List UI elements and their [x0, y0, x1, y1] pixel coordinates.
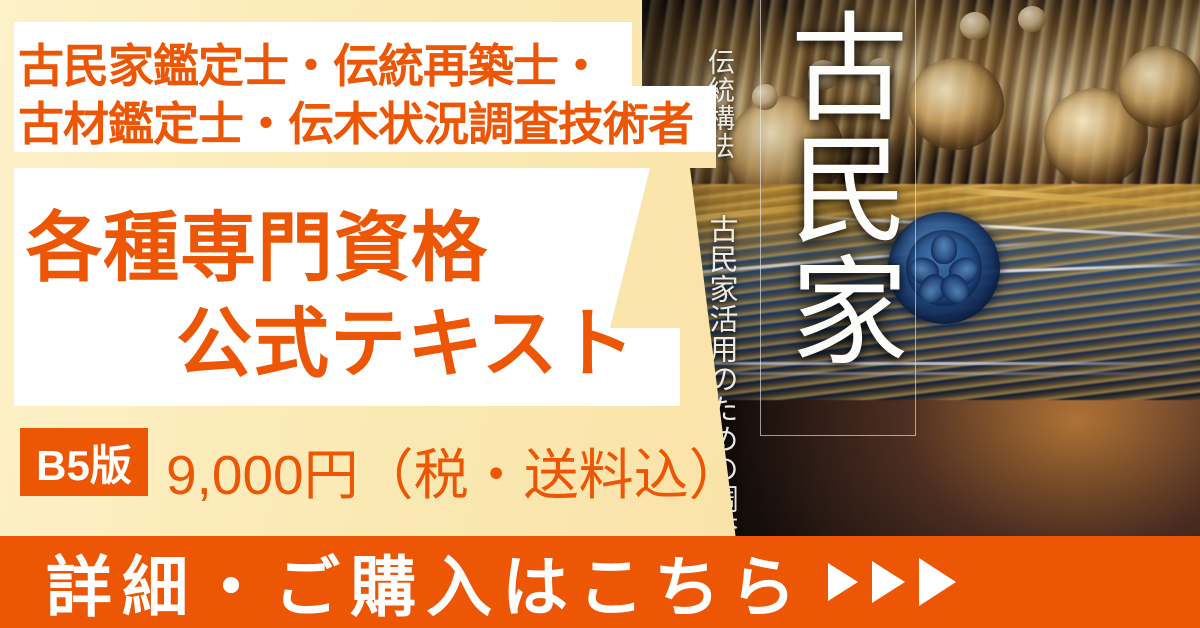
promo-banner: 古民家 伝統構法 古民家活用のための調査と再生の 古民家鑑定士・伝統再築士・ 古…	[0, 0, 1200, 628]
format-badge: B5版	[20, 428, 148, 496]
title-line-2: 公式テキスト	[176, 282, 636, 392]
wood-curl-icon	[1118, 46, 1200, 128]
cta-label: 詳細・ご購入はこちら	[46, 534, 806, 628]
price-row: B5版 9,000円（税・送料込）	[0, 406, 760, 520]
wood-bead-icon	[1018, 6, 1046, 32]
crest-petal-icon	[931, 234, 957, 264]
cta-arrows	[828, 558, 956, 606]
triangle-right-icon	[828, 563, 858, 601]
wood-curl-icon	[908, 58, 1004, 150]
title-line-1: 各種専門資格	[26, 186, 488, 296]
price-text: 9,000円（税・送料込）	[166, 430, 744, 510]
triangle-right-icon	[919, 558, 956, 606]
headline-line-1: 古民家鑑定士・伝統再築士・	[18, 30, 603, 96]
cta-bar[interactable]: 詳細・ご購入はこちら	[0, 536, 1200, 628]
headline-line-2: 古材鑑定士・伝木状況調査技術者	[18, 88, 693, 154]
wood-bead-icon	[960, 12, 990, 40]
triangle-right-icon	[872, 561, 905, 603]
book-title-vertical: 古民家	[772, 6, 904, 372]
crest-inner-disc	[906, 230, 982, 306]
